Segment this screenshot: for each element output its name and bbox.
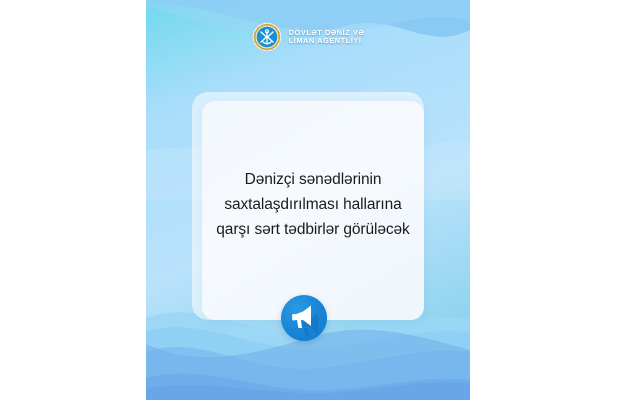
announcement-poster: DÖVLƏT DƏNİZ VƏ LİMAN AGENTLİYİ Dənizçi …	[146, 0, 470, 400]
agency-logo-block: DÖVLƏT DƏNİZ VƏ LİMAN AGENTLİYİ	[146, 22, 470, 52]
headline-card: Dənizçi sənədlərinin saxtalaşdırılması h…	[202, 101, 424, 320]
headline-text: Dənizçi sənədlərinin saxtalaşdırılması h…	[202, 167, 424, 242]
screenshot-canvas: DÖVLƏT DƏNİZ VƏ LİMAN AGENTLİYİ Dənizçi …	[0, 0, 640, 400]
agency-logo-text: DÖVLƏT DƏNİZ VƏ LİMAN AGENTLİYİ	[289, 29, 365, 45]
megaphone-icon	[281, 295, 327, 341]
megaphone-badge	[281, 295, 327, 341]
agency-title-line-2: LİMAN AGENTLİYİ	[289, 37, 365, 45]
state-maritime-agency-emblem-icon	[252, 22, 282, 52]
